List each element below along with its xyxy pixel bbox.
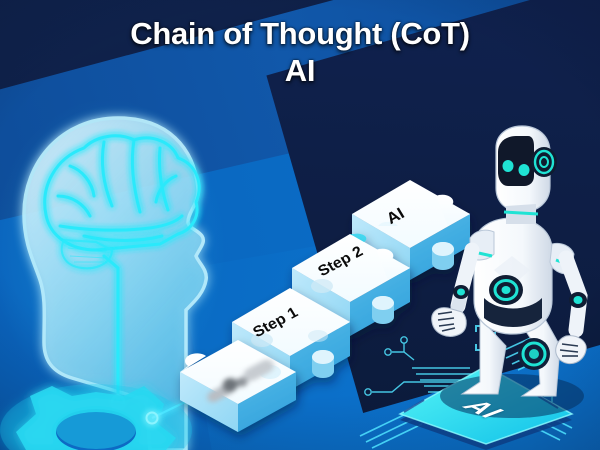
page-title-line1: Chain of Thought (CoT) <box>130 16 469 51</box>
robot-ear-sensor <box>531 147 557 177</box>
infographic-canvas: Chain of Thought (CoT) AI Step 1 Step 2 … <box>0 0 600 450</box>
page-title: Chain of Thought (CoT) AI <box>0 16 600 89</box>
robot-left-hand <box>432 308 467 337</box>
robot-right-hand <box>556 336 587 364</box>
page-title-line2: AI <box>0 53 600 90</box>
